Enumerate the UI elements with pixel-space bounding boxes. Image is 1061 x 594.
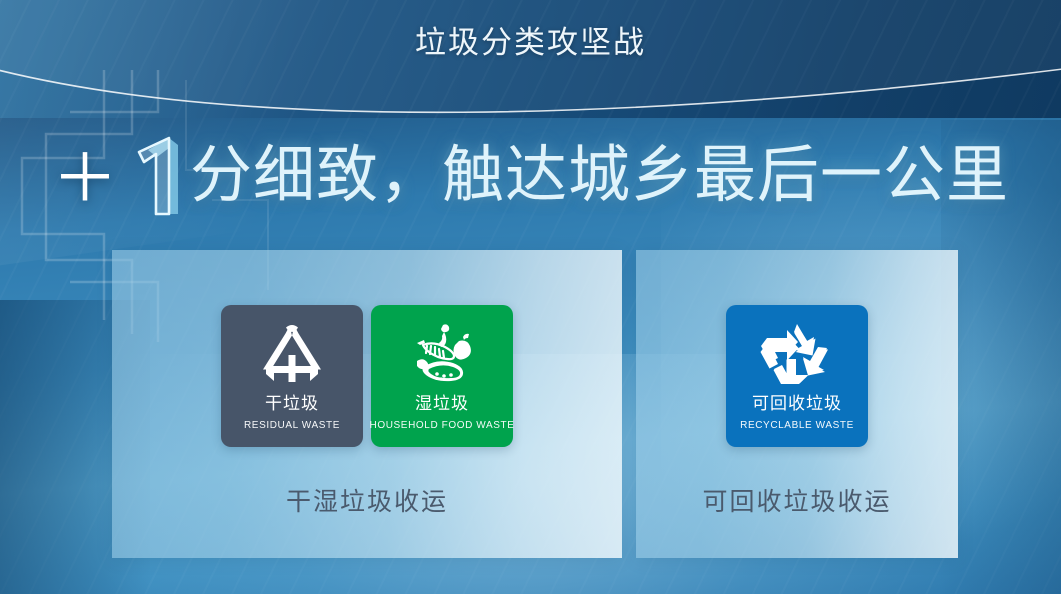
card-row: 可回收垃圾 RECYCLABLE WASTE	[726, 305, 868, 447]
panel-caption: 可回收垃圾收运	[636, 482, 958, 518]
card-label-cn: 湿垃圾	[415, 395, 469, 414]
card-label-cn: 可回收垃圾	[752, 395, 842, 414]
card-label-cn: 干垃圾	[265, 395, 319, 414]
page-title: 垃圾分类攻坚战	[0, 24, 1061, 63]
headline-text: 分细致，触达城乡最后一公里	[190, 145, 1009, 207]
panel-dry-wet-collection[interactable]: 干垃圾 RESIDUAL WASTE	[112, 250, 622, 558]
recycle-arrows-icon	[758, 321, 836, 387]
food-waste-icon	[403, 321, 481, 387]
card-label-en: RECYCLABLE WASTE	[740, 420, 854, 431]
headline: ＋ 分细致，触达城乡最后一公里	[0, 128, 1061, 224]
headline-number-one	[126, 130, 188, 222]
card-label-en: RESIDUAL WASTE	[244, 420, 340, 431]
card-row: 干垃圾 RESIDUAL WASTE	[221, 305, 513, 447]
panel-caption: 干湿垃圾收运	[112, 482, 622, 518]
card-residual-waste[interactable]: 干垃圾 RESIDUAL WASTE	[221, 305, 363, 447]
slide-canvas: 垃圾分类攻坚战 ＋ 分细致，触达城乡最后一公里	[0, 0, 1061, 594]
card-recyclable-waste[interactable]: 可回收垃圾 RECYCLABLE WASTE	[726, 305, 868, 447]
panel-recyclable-collection[interactable]: 可回收垃圾 RECYCLABLE WASTE 可回收垃圾收运	[636, 250, 958, 558]
headline-plus-symbol: ＋	[52, 145, 118, 211]
card-household-food-waste[interactable]: 湿垃圾 HOUSEHOLD FOOD WASTE	[371, 305, 513, 447]
card-label-en: HOUSEHOLD FOOD WASTE	[370, 420, 515, 431]
residual-waste-icon	[253, 321, 331, 387]
